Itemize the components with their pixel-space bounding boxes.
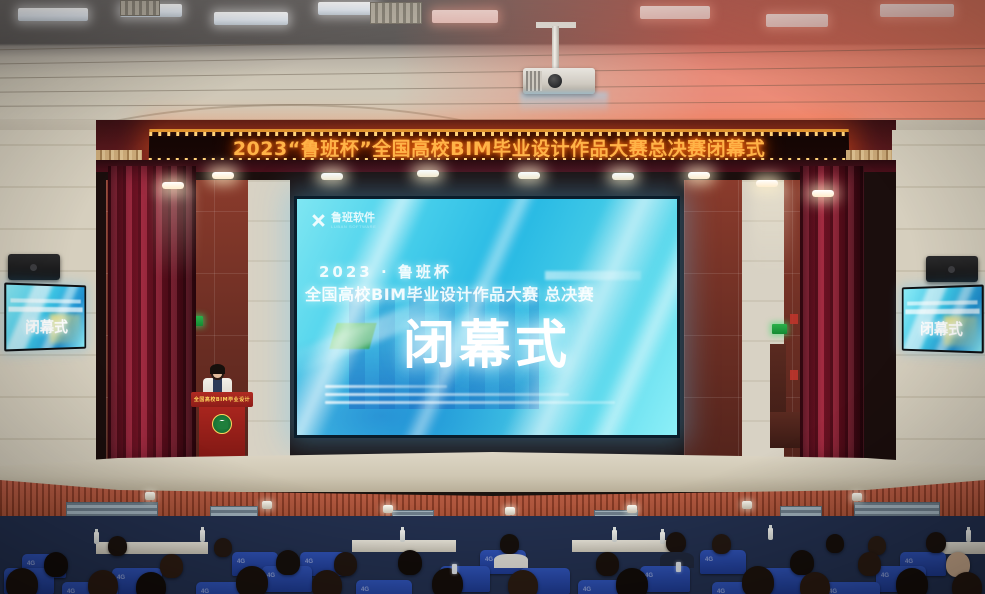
water-bottle <box>612 530 617 542</box>
stage-footlight <box>852 493 862 501</box>
stage-footlight <box>742 501 752 509</box>
audience-area <box>0 516 985 594</box>
monitor-subtitle-line <box>905 309 979 315</box>
audience-head <box>826 534 844 553</box>
spotlight-beam <box>155 188 195 278</box>
projector-lens-icon <box>548 74 562 88</box>
audience-head <box>896 568 928 594</box>
audience-head <box>88 570 118 594</box>
monitor-title-line <box>907 300 977 305</box>
luban-logo-mark-icon <box>308 210 329 231</box>
audience-head <box>136 572 166 594</box>
stage-side-tile-wall-left <box>248 180 290 460</box>
ceiling-panel-light <box>214 12 288 25</box>
audience-head <box>160 554 183 578</box>
stage-spotlight <box>518 172 540 179</box>
side-monitor-left-content: 闭幕式 <box>6 285 84 350</box>
audience-head <box>500 534 519 554</box>
auditorium-seat <box>824 582 880 594</box>
audience-head <box>214 538 232 557</box>
stage-spotlight <box>612 173 634 180</box>
water-bottle <box>400 530 405 542</box>
podium-front-text: 全国高校BIM毕业设计 <box>194 396 250 403</box>
stage-spotlight <box>417 170 439 177</box>
ceiling-panel-light <box>318 2 376 15</box>
audience-head <box>312 570 342 594</box>
ceiling <box>0 0 985 128</box>
screen-title-line1: 2023 · 鲁班杯 <box>319 261 452 282</box>
speaker-person-hair <box>210 364 225 374</box>
logo-text-cn: 鲁班软件 <box>331 212 376 223</box>
stage-footlight <box>383 505 393 513</box>
ceiling-panel-light <box>640 6 710 19</box>
water-bottle <box>94 532 99 544</box>
audience-head <box>926 532 946 553</box>
auditorium-photo: 2023“鲁班杯”全国高校BIM毕业设计作品大赛总决赛闭幕式 <box>0 0 985 594</box>
projector-beam <box>520 92 608 114</box>
audience-head <box>596 552 619 576</box>
audience-head <box>6 568 38 594</box>
luban-software-logo: 鲁班软件 LUBAN SOFTWARE <box>311 212 376 229</box>
stage-footlight <box>262 501 272 509</box>
ceiling-panel-light <box>766 14 828 27</box>
fire-equipment-marker-icon <box>790 314 798 324</box>
stage-curtain-right <box>800 166 864 466</box>
audience-head <box>276 550 300 575</box>
audience-head <box>858 552 881 576</box>
smartphone-icon <box>452 564 457 574</box>
stage-spotlight <box>321 173 343 180</box>
wall-speaker-right <box>926 256 978 282</box>
side-monitor-left: 闭幕式 <box>4 282 86 351</box>
audience-shoulders <box>494 554 528 568</box>
exit-sign-icon <box>772 324 787 334</box>
audience-head <box>334 552 357 576</box>
audience-head <box>666 532 686 553</box>
audience-head <box>432 568 463 594</box>
stage-footlight <box>505 507 515 515</box>
ceiling-vent <box>370 2 422 24</box>
monitor-subtitle-line <box>8 307 82 313</box>
side-monitor-right-content: 闭幕式 <box>904 287 982 352</box>
fire-equipment-marker-icon <box>790 370 798 380</box>
ceiling-panel-light <box>18 8 88 21</box>
monitor-title-line <box>10 298 80 303</box>
ceiling-panel-light <box>880 4 954 17</box>
audience-head <box>616 568 648 594</box>
side-monitor-left-headline: 闭幕式 <box>6 316 84 338</box>
stage-spotlight <box>212 172 234 179</box>
screen-fineprint-line <box>325 401 615 404</box>
screen-fineprint-line <box>325 385 447 388</box>
podium-emblem-icon <box>212 414 232 434</box>
audience-head <box>742 566 774 594</box>
ceiling-panel-light <box>432 10 498 23</box>
stage-footlight <box>627 505 637 513</box>
audience-head <box>508 570 538 594</box>
audience-head <box>44 552 68 577</box>
audience-head <box>712 534 731 554</box>
projector-vent-icon <box>526 71 542 91</box>
water-bottle <box>200 530 205 542</box>
water-bottle <box>660 532 665 544</box>
audience-head <box>790 550 814 575</box>
side-monitor-right-headline: 闭幕式 <box>904 318 982 340</box>
screen-title-line2: 全国高校BIM毕业设计作品大赛 总决赛 <box>305 281 594 305</box>
smartphone-icon <box>676 562 681 572</box>
water-bottle <box>966 530 971 542</box>
screen-headline: 闭幕式 <box>297 303 677 378</box>
auditorium-seat <box>356 580 412 594</box>
projector-pole <box>552 26 559 72</box>
main-led-screen: 鲁班软件 LUBAN SOFTWARE 2023 · 鲁班杯 全国高校BIM毕业… <box>294 196 680 438</box>
stage-footlight <box>145 492 155 500</box>
spotlight-beam <box>752 186 792 276</box>
stage-spotlight <box>688 172 710 179</box>
ceiling-vent <box>120 0 160 16</box>
led-screen-content: 鲁班软件 LUBAN SOFTWARE 2023 · 鲁班杯 全国高校BIM毕业… <box>297 199 677 435</box>
logo-text-en: LUBAN SOFTWARE <box>331 225 376 229</box>
curtain-valance <box>96 160 896 172</box>
stage-floor <box>0 452 985 492</box>
side-monitor-right: 闭幕式 <box>902 284 984 353</box>
wall-speaker-left <box>8 254 60 280</box>
audience-head <box>236 566 268 594</box>
audience-head <box>952 572 982 594</box>
led-banner-text: 2023“鲁班杯”全国高校BIM毕业设计作品大赛总决赛闭幕式 <box>233 134 766 161</box>
water-bottle <box>768 528 773 540</box>
screen-subtitle-bar <box>545 271 641 280</box>
screen-fineprint-line <box>325 393 569 396</box>
podium-top: 全国高校BIM毕业设计 <box>191 392 253 407</box>
screen-fineprint-block <box>325 385 615 409</box>
audience-head <box>108 536 127 556</box>
audience-head <box>398 550 422 575</box>
stage-spotlight <box>812 190 834 197</box>
audience-head <box>800 572 830 594</box>
